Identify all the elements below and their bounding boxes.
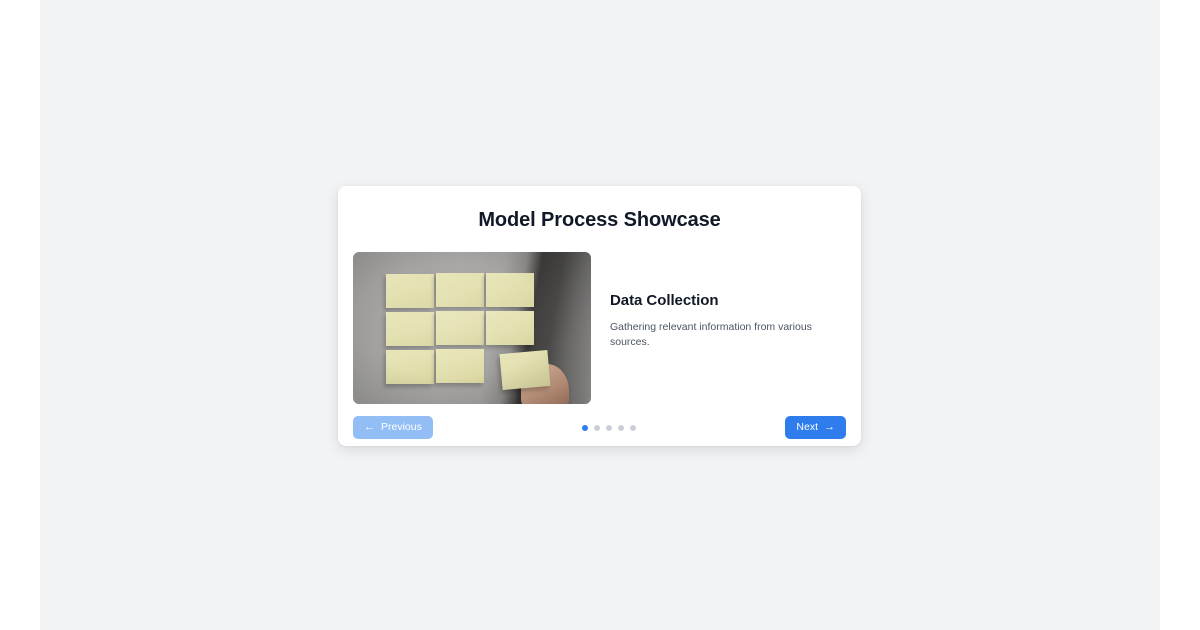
slide-heading: Data Collection — [610, 292, 846, 311]
page-title: Model Process Showcase — [353, 208, 846, 232]
slide-text-block: Data Collection Gathering relevant infor… — [591, 252, 846, 350]
arrow-left-icon: ← — [364, 422, 375, 433]
slide-navigation: ← Previous Next → — [353, 416, 846, 439]
pagination-dot-1[interactable] — [582, 425, 588, 431]
arrow-right-icon: → — [824, 422, 835, 433]
pagination-dots — [582, 425, 636, 431]
pagination-dot-3[interactable] — [606, 425, 612, 431]
next-button-label: Next — [796, 422, 818, 433]
slide-image — [353, 252, 591, 404]
showcase-card: Model Process Showcase — [338, 186, 861, 446]
next-button[interactable]: Next → — [785, 416, 846, 439]
photo-vignette — [353, 252, 591, 404]
pagination-dot-4[interactable] — [618, 425, 624, 431]
previous-button[interactable]: ← Previous — [353, 416, 433, 439]
pagination-dot-2[interactable] — [594, 425, 600, 431]
pagination-dot-5[interactable] — [630, 425, 636, 431]
slide-content: Data Collection Gathering relevant infor… — [353, 252, 846, 404]
slide-description: Gathering relevant information from vari… — [610, 320, 822, 350]
page-root: Model Process Showcase — [0, 0, 1200, 630]
previous-button-label: Previous — [381, 422, 422, 433]
